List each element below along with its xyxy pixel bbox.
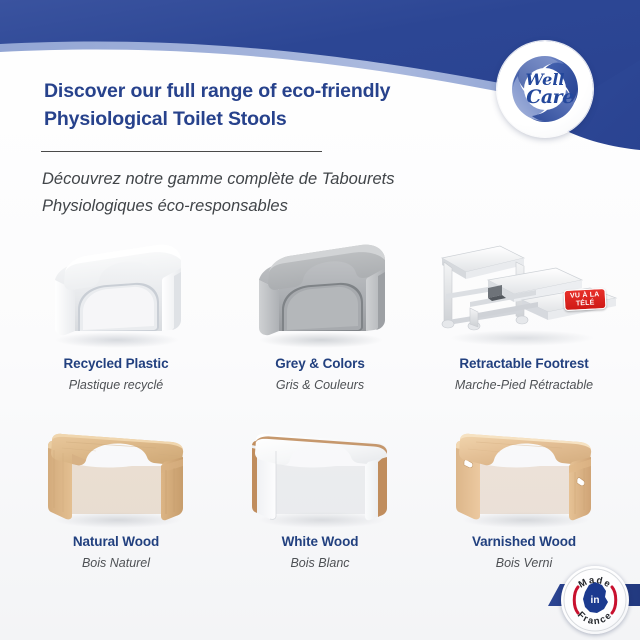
footer-ribbon-graphic (0, 560, 640, 640)
stool-plastic-grey-icon (235, 232, 405, 354)
product-name: Natural Wood (73, 534, 159, 549)
product-image-white-wood (218, 410, 422, 532)
product-image-grey-colors (218, 232, 422, 354)
stool-plastic-white-icon (31, 232, 201, 354)
product-name: White Wood (282, 534, 359, 549)
tv-badge-line1: VU À LA (570, 291, 600, 300)
product-image-retractable-footrest: VU À LA TÉLÉ (422, 232, 626, 354)
page-title: Discover our full range of eco-friendly … (44, 78, 514, 133)
product-name: Grey & Colors (275, 356, 364, 371)
product-card-grey-colors[interactable]: Grey & Colors Gris & Couleurs (218, 232, 422, 410)
product-image-varnished-wood (422, 410, 626, 532)
page-subtitle-line1: Découvrez notre gamme complète de Tabour… (42, 166, 472, 193)
page-subtitle: Découvrez notre gamme complète de Tabour… (42, 166, 472, 219)
stool-wood-white-icon (230, 410, 410, 532)
product-image-recycled-plastic (14, 232, 218, 354)
page-title-line1: Discover our full range of eco-friendly (44, 78, 514, 106)
product-grid: Recycled Plastic Plastique recyclé (14, 232, 626, 588)
product-card-recycled-plastic[interactable]: Recycled Plastic Plastique recyclé (14, 232, 218, 410)
product-name: Retractable Footrest (459, 356, 588, 371)
product-card-retractable-footrest[interactable]: VU À LA TÉLÉ Retractable Footrest Marche… (422, 232, 626, 410)
product-name-fr: Marche-Pied Rétractable (455, 378, 593, 392)
page-title-line2: Physiological Toilet Stools (44, 106, 514, 134)
wellcare-logo-inner: Well Care (506, 50, 584, 128)
product-image-natural-wood (14, 410, 218, 532)
product-name: Varnished Wood (472, 534, 576, 549)
tv-badge: VU À LA TÉLÉ (563, 288, 606, 311)
made-in-france-center: in (591, 595, 600, 606)
footer-ribbon (0, 560, 640, 640)
title-divider (41, 151, 322, 152)
logo-swirl-icon (506, 50, 584, 128)
tv-badge-line2: TÉLÉ (576, 300, 595, 308)
product-name-fr: Plastique recyclé (69, 378, 164, 392)
promo-page: Well Care Discover our full range of eco… (0, 0, 640, 640)
stool-wood-natural-icon (26, 410, 206, 532)
product-name: Recycled Plastic (64, 356, 169, 371)
page-subtitle-line2: Physiologiques éco-responsables (42, 193, 472, 220)
made-in-france-badge: in Made France (561, 566, 629, 634)
stool-wood-varnished-icon (434, 410, 614, 532)
product-name-fr: Gris & Couleurs (276, 378, 364, 392)
made-in-france-icon: in Made France (561, 566, 629, 634)
